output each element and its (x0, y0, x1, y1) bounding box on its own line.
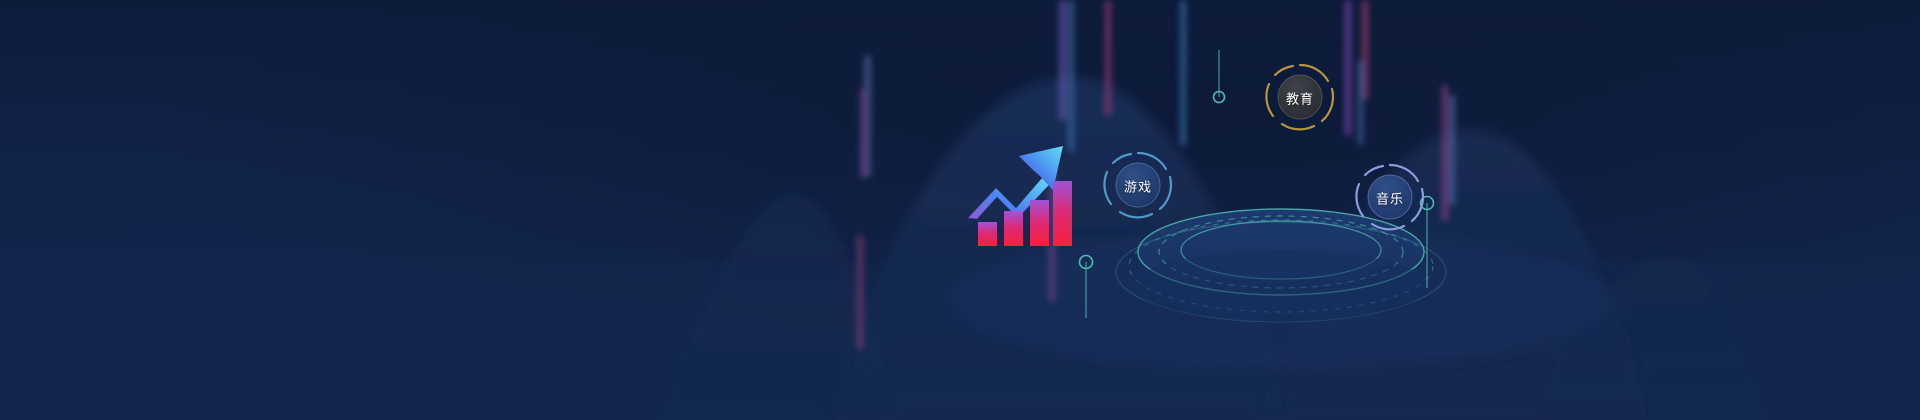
light-streak (857, 235, 863, 350)
light-streak (1059, 0, 1066, 120)
badge-music-ring-arc-4 (1356, 184, 1363, 216)
badge-music-ring-arc-5 (1365, 166, 1383, 175)
light-streak (1068, 0, 1074, 152)
light-streak (1358, 60, 1363, 145)
badge-education-ring-arc-5 (1275, 66, 1293, 75)
badge-education[interactable] (1266, 65, 1333, 129)
badge-education-ring-arc-2 (1322, 89, 1333, 121)
hero-banner-scene: 游戏 教育 音乐 (0, 0, 1920, 420)
badge-game[interactable] (1104, 153, 1171, 217)
badge-game-ring-arc-4 (1104, 172, 1111, 204)
elliptical-platform (1116, 209, 1446, 322)
bar-chart-icon (978, 181, 1072, 246)
bar-3 (1030, 200, 1049, 246)
illustration-layer (0, 0, 1920, 420)
light-streak (1345, 0, 1351, 136)
light-streak (1105, 0, 1111, 116)
light-streak (1450, 95, 1455, 205)
platform-shadow (1133, 250, 1429, 322)
badge-education-ring-arc-3 (1282, 124, 1314, 129)
light-streak (1180, 0, 1186, 146)
badge-game-ring-arc-2 (1160, 177, 1171, 209)
bar-2 (1004, 211, 1023, 246)
badge-music-ring-arc-2 (1412, 189, 1423, 221)
bar-1 (978, 222, 997, 246)
light-streak (860, 88, 866, 178)
light-streak (1442, 85, 1448, 221)
badge-education-ring-arc-4 (1266, 84, 1273, 116)
badge-game-ring-arc-5 (1113, 154, 1131, 163)
bar-4 (1053, 181, 1072, 246)
badge-game-ring-arc-3 (1120, 212, 1152, 217)
